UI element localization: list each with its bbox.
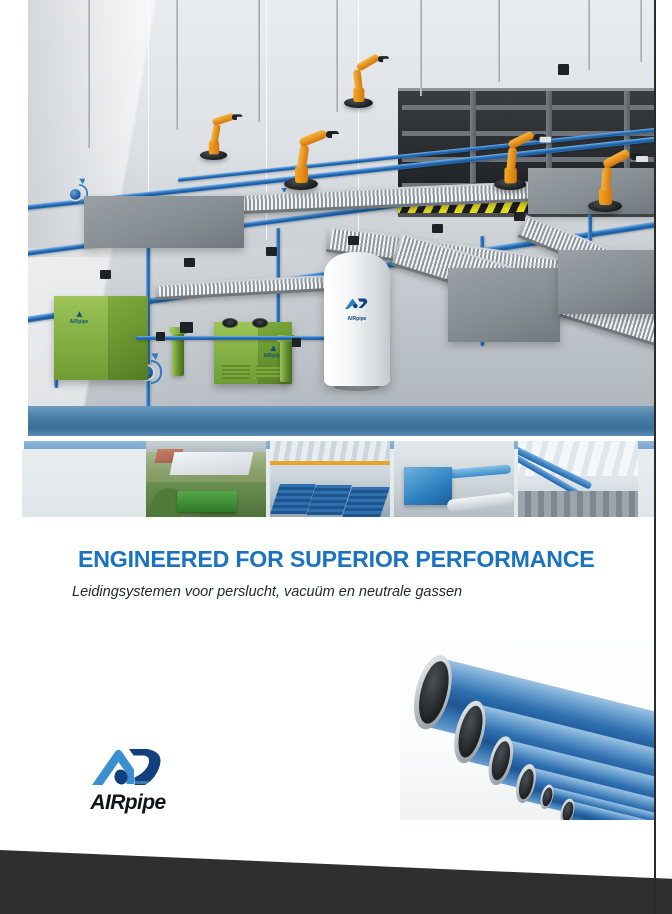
pipe-valve: [156, 332, 165, 341]
pipe-bracket: [184, 258, 195, 267]
pipe-bracket: [432, 224, 443, 233]
air-compressor-unit: ▲AIRpipe: [54, 296, 148, 380]
brochure-page: ▲AIRpipe ▲AIRpipe: [0, 0, 672, 914]
machine-enclosure: [84, 196, 244, 248]
pipe-bracket: [558, 64, 569, 75]
dryer-fan: [222, 318, 238, 328]
pipe-bracket: [514, 212, 525, 221]
machine-enclosure: [448, 268, 560, 342]
machine-enclosure: [558, 250, 656, 314]
airpipe-mountain-icon: [89, 744, 167, 788]
dryer-fan: [252, 318, 268, 328]
ceiling-drop-rod: [640, 0, 642, 62]
pipe-bracket: [266, 247, 277, 256]
pipe-valve: [292, 338, 301, 347]
page-border: [654, 0, 656, 914]
ceiling-drop-rod: [258, 0, 260, 122]
page-subtitle: Leidingsystemen voor perslucht, vacuüm e…: [72, 584, 632, 600]
ceiling-drop-rod: [498, 0, 500, 82]
pipe-bracket: [180, 322, 193, 333]
ceiling-drop-rod: [420, 0, 422, 96]
ceiling-drop-rod: [336, 0, 338, 112]
thumb-production-hall: [518, 441, 638, 517]
ceiling-drop-rod: [88, 0, 90, 148]
equipment-connection-pipe: [136, 336, 336, 340]
accent-band-steel-blue: [28, 406, 656, 436]
equipment-logo: ▲AIRpipe: [62, 310, 96, 325]
thumb-compressor-room: [394, 441, 514, 517]
thumb-aerial-factory: [146, 441, 266, 517]
thumbnail-strip: [146, 441, 656, 517]
blue-aluminium-pipes-photo: [400, 628, 656, 820]
airpipe-mark-svg: [89, 744, 167, 788]
pipe-bracket: [348, 236, 359, 245]
hero-image: ▲AIRpipe ▲AIRpipe: [28, 0, 656, 414]
airpipe-mountain-icon: [344, 296, 370, 310]
footer-dark-wedge: [0, 834, 672, 914]
ceiling-drop-rod: [176, 0, 178, 130]
thumb-pipe-warehouse: [270, 441, 390, 517]
tank-logo: AIRpipe: [324, 296, 390, 322]
brand-logo: AIRpipe: [68, 744, 188, 818]
air-filter: [280, 340, 292, 382]
page-title: ENGINEERED FOR SUPERIOR PERFORMANCE: [78, 546, 610, 573]
brand-wordmark: AIRpipe: [68, 792, 188, 813]
ceiling-drop-rod: [588, 0, 590, 70]
air-receiver-tank: AIRpipe: [324, 252, 390, 386]
pipe-bracket: [100, 270, 111, 279]
